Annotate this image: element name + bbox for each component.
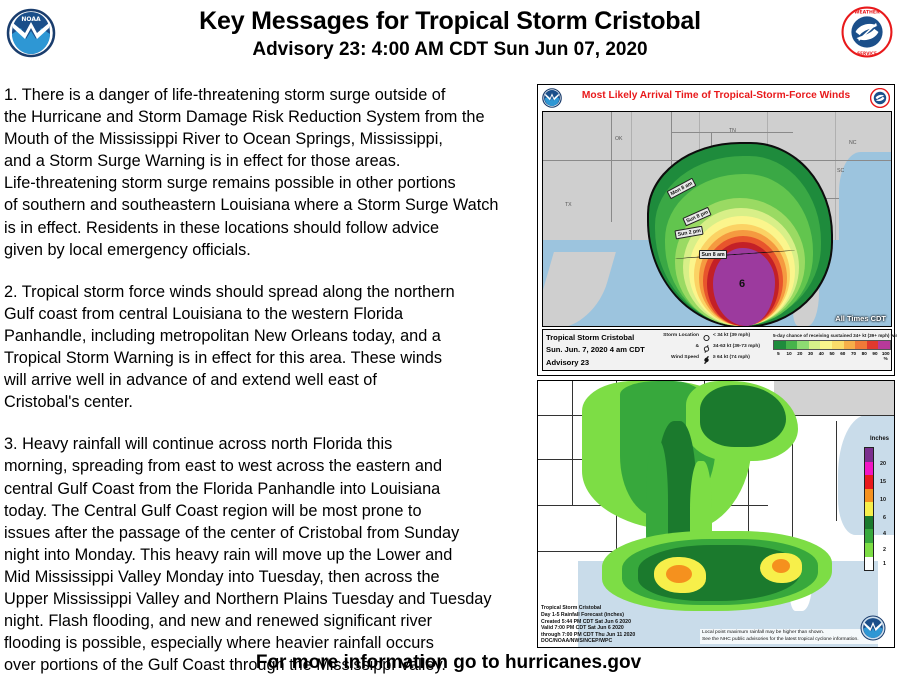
nws-logo-icon: WEATHER SERVICE	[841, 6, 893, 58]
legend-storm-name: Tropical Storm Cristobal	[546, 332, 656, 344]
legend-prob-tick-4: 40	[816, 351, 827, 361]
rain-caption-line-4: Valid 7:00 PM CDT Sat Jun 6 2020	[541, 625, 691, 632]
rain-colorbar-tick-1: 1	[883, 561, 886, 567]
noaa-logo-icon-rain	[860, 615, 886, 641]
legend-probability-caption: 5-day chance of receiving sustained 34+ …	[773, 333, 897, 338]
legend-prob-tick-9: 90	[870, 351, 881, 361]
rain-caption-line-1: Tropical Storm Cristobal	[541, 605, 691, 612]
legend-storm-advisory: Advisory 23	[546, 357, 656, 369]
rain-colorbar-tick-6: 6	[883, 515, 886, 521]
filled-cyclone-icon	[703, 356, 710, 364]
legend-symbol-row-hurricane: Wind Speed ≥ 64 kt (74 mph)	[659, 355, 771, 366]
page-header: NOAA Key Messages for Tropical Storm Cri…	[0, 0, 897, 72]
legend-symbol-text-2: 34-63 kt (39-73 mph)	[713, 344, 760, 349]
legend-prob-swatch-9	[878, 341, 890, 349]
legend-symbol-text-1: < 34 kt (39 mph)	[713, 333, 750, 338]
key-message-1: 1. There is a danger of life-threatening…	[4, 84, 538, 261]
rain-colorbar-band-7	[865, 543, 873, 557]
svg-text:SERVICE: SERVICE	[857, 51, 877, 56]
rain-colorbar-band-2	[865, 475, 873, 489]
footer-info-text: For more information go to hurricanes.go…	[0, 650, 897, 676]
rain-border-v7	[836, 421, 837, 521]
legend-prob-swatch-4	[820, 341, 832, 349]
legend-prob-tick-8: 80	[859, 351, 870, 361]
legend-symbol-caption-3: Wind Speed	[659, 355, 699, 360]
rain-contour-10in-florida	[772, 559, 790, 573]
rain-colorbar-tick-4: 4	[883, 531, 886, 537]
state-label-tn: TN	[729, 128, 736, 134]
advisory-subtitle: Advisory 23: 4:00 AM CDT Sun Jun 07, 202…	[60, 37, 840, 63]
state-label-ok: OK	[615, 136, 623, 142]
legend-probability-scale: 5-day chance of receiving sustained 34+ …	[773, 333, 897, 361]
noaa-logo-icon-small	[542, 88, 562, 108]
state-border-v1	[611, 112, 612, 222]
svg-text:WEATHER: WEATHER	[854, 9, 880, 15]
legend-prob-tick-5: 50	[827, 351, 838, 361]
rain-colorbar-band-5	[865, 516, 873, 530]
rain-colorbar-band-0	[865, 448, 873, 462]
rain-colorbar-band-1	[865, 462, 873, 476]
rain-colorbar-title: Inches	[870, 436, 889, 442]
arrival-time-pill-sun8am: Sun 8 am	[699, 250, 727, 259]
legend-prob-tick-7: 70	[848, 351, 859, 361]
arrival-time-panel: Most Likely Arrival Time of Tropical-Sto…	[537, 84, 895, 376]
rain-colorbar-tick-2: 2	[883, 547, 886, 553]
legend-prob-swatch-2	[797, 341, 809, 349]
open-cyclone-icon	[703, 345, 710, 353]
rain-caption-line-6: DOC/NOAA/NWS/NCEP/WPC	[541, 638, 691, 645]
rain-colorbar-tick-10: 10	[880, 497, 886, 503]
legend-prob-tick-2: 20	[794, 351, 805, 361]
legend-prob-swatch-5	[832, 341, 844, 349]
atlantic-water	[839, 152, 892, 252]
legend-symbol-caption-2: &	[659, 344, 699, 349]
legend-prob-swatch-1	[786, 341, 798, 349]
rain-caption-line-3: Created 5:44 PM CDT Sat Jun 6 2020	[541, 619, 691, 626]
key-messages-list: 1. There is a danger of life-threatening…	[4, 84, 538, 696]
rain-colorbar-tick-15: 15	[880, 479, 886, 485]
rain-caption-line-5: through 7:00 PM CDT Thu Jun 11 2020	[541, 632, 691, 639]
legend-prob-swatch-0	[774, 341, 786, 349]
legend-prob-tick-0: 5	[773, 351, 784, 361]
legend-storm-info: Tropical Storm Cristobal Sun. Jun. 7, 20…	[546, 332, 656, 369]
rainfall-forecast-panel[interactable]: Inches 20 15 10 6 4 2 1 Tropical Storm C…	[537, 380, 895, 648]
rain-caption-line-2: Day 1-5 Rainfall Forecast (inches)	[541, 612, 691, 619]
page-title: Key Messages for Tropical Storm Cristoba…	[60, 6, 840, 36]
arrival-time-map[interactable]: 95W 90W 85W 80W 35N 30N OK TX	[542, 111, 892, 327]
svg-text:NOAA: NOAA	[21, 16, 41, 23]
rain-map-disclaimer: Local point maximum rainfall may be high…	[700, 629, 880, 644]
arrival-center-label: 6	[739, 278, 745, 290]
arrival-map-header: Most Likely Arrival Time of Tropical-Sto…	[538, 85, 894, 111]
legend-prob-tick-10: 100 %	[880, 351, 891, 361]
legend-prob-tick-1: 10	[784, 351, 795, 361]
rain-colorbar-band-4	[865, 502, 873, 516]
key-message-3: 3. Heavy rainfall will continue across n…	[4, 433, 538, 676]
legend-symbol-caption-1: Storm Location	[659, 333, 699, 338]
state-label-tx: TX	[565, 202, 572, 208]
legend-prob-tick-3: 30	[805, 351, 816, 361]
arrival-map-title: Most Likely Arrival Time of Tropical-Sto…	[568, 89, 864, 103]
graphics-column: Most Likely Arrival Time of Tropical-Sto…	[537, 84, 895, 650]
legend-prob-swatch-7	[855, 341, 867, 349]
state-label-sc: SC	[837, 168, 844, 174]
title-block: Key Messages for Tropical Storm Cristoba…	[60, 6, 840, 63]
rain-colorbar-band-8	[865, 557, 873, 571]
nws-logo-icon-small	[870, 88, 890, 108]
legend-prob-swatch-3	[809, 341, 821, 349]
rain-colorbar	[864, 447, 874, 571]
legend-symbol-row-storm: & 34-63 kt (39-73 mph)	[659, 344, 771, 355]
all-times-note: All Times CDT	[835, 314, 886, 323]
legend-symbol-key: Storm Location < 34 kt (39 mph) &	[659, 333, 771, 366]
page-footer: For more information go to hurricanes.go…	[0, 650, 897, 676]
rain-colorbar-band-6	[865, 529, 873, 543]
legend-probability-swatches	[773, 340, 891, 350]
legend-storm-time: Sun. Jun. 7, 2020 4 am CDT	[546, 344, 656, 356]
noaa-logo-icon: NOAA	[6, 8, 56, 58]
rain-map-caption: Tropical Storm Cristobal Day 1-5 Rainfal…	[541, 605, 691, 645]
rain-disclaimer-line-2: See the NHC public advisories for the la…	[702, 637, 878, 643]
key-message-2: 2. Tropical storm force winds should spr…	[4, 281, 538, 414]
legend-prob-swatch-8	[867, 341, 879, 349]
rain-colorbar-band-3	[865, 489, 873, 503]
rain-colorbar-tick-20: 20	[880, 461, 886, 467]
rain-contour-10in-louisiana	[666, 565, 692, 583]
legend-probability-ticks: 5102030405060708090100 %	[773, 351, 891, 361]
state-label-nc: NC	[849, 140, 857, 146]
legend-symbol-row-ts: Storm Location < 34 kt (39 mph)	[659, 333, 771, 344]
arrival-map-legend: Tropical Storm Cristobal Sun. Jun. 7, 20…	[542, 329, 892, 371]
open-circle-icon	[703, 334, 710, 342]
legend-symbol-text-3: ≥ 64 kt (74 mph)	[713, 355, 750, 360]
legend-prob-swatch-6	[844, 341, 856, 349]
legend-prob-tick-6: 60	[837, 351, 848, 361]
rain-border-v1	[572, 381, 573, 505]
